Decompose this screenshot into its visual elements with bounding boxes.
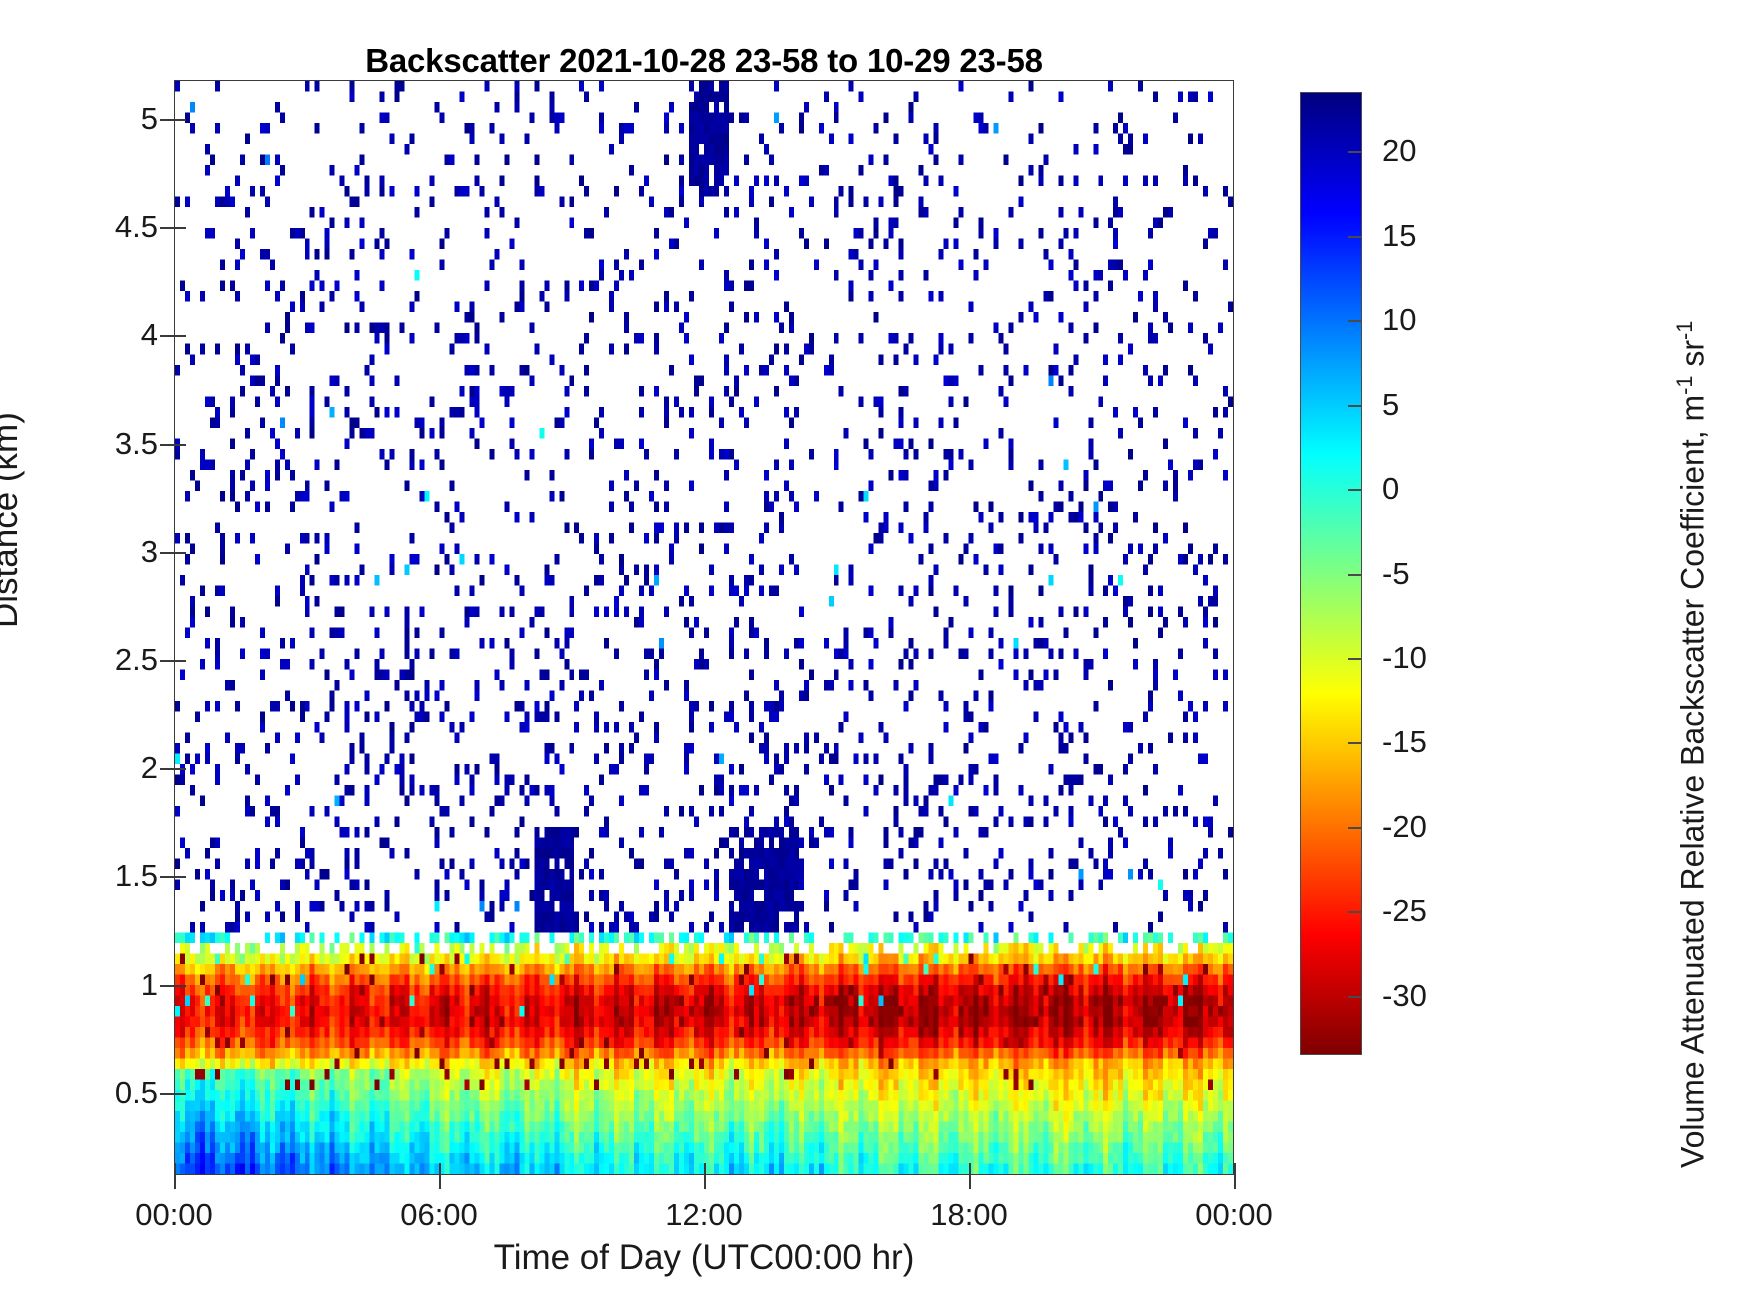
y-axis-tick-label: 5 [60, 101, 158, 137]
colorbar-tick [1348, 489, 1362, 491]
y-axis-tick-label: 4 [60, 317, 158, 353]
colorbar-tick [1348, 996, 1362, 998]
y-axis-tick [174, 876, 186, 878]
colorbar-tick [1348, 236, 1362, 238]
y-axis-tick-label: 3 [60, 534, 158, 570]
colorbar-tick [1348, 405, 1362, 407]
y-axis-tick [174, 227, 186, 229]
colorbar-tick [1348, 911, 1362, 913]
heatmap-bitmap [175, 81, 1233, 1174]
y-axis-tick-label: 2 [60, 750, 158, 786]
y-axis-tick-label: 0.5 [60, 1075, 158, 1111]
x-axis-tick-label: 18:00 [930, 1197, 1008, 1233]
y-axis-tick-label: 2.5 [60, 642, 158, 678]
y-axis-tick [174, 985, 186, 987]
y-axis-tick-outer [160, 552, 174, 554]
y-axis-tick [174, 335, 186, 337]
colorbar-title-mid: sr [1675, 340, 1711, 376]
y-axis-tick [174, 1093, 186, 1095]
x-axis-tick-label: 06:00 [400, 1197, 478, 1233]
colorbar-title: Volume Attenuated Relative Backscatter C… [1672, 321, 1712, 1168]
colorbar-tick-label: -10 [1382, 640, 1427, 676]
y-axis-tick-label: 3.5 [60, 426, 158, 462]
colorbar-tick-label: -5 [1382, 556, 1410, 592]
y-axis-tick-outer [160, 119, 174, 121]
colorbar-tick [1348, 320, 1362, 322]
x-axis-tick-outer [1234, 1175, 1236, 1189]
colorbar-tick [1348, 742, 1362, 744]
page-title: Backscatter 2021-10-28 23-58 to 10-29 23… [174, 42, 1234, 80]
colorbar-tick [1348, 574, 1362, 576]
y-axis-tick-label: 1 [60, 967, 158, 1003]
x-axis-tick-outer [174, 1175, 176, 1189]
colorbar-tick-label: 20 [1382, 133, 1416, 169]
x-axis-tick-label: 00:00 [1195, 1197, 1273, 1233]
colorbar-title-main: Volume Attenuated Relative Backscatter C… [1675, 395, 1711, 1168]
figure-canvas: Backscatter 2021-10-28 23-58 to 10-29 23… [0, 0, 1750, 1313]
y-axis-tick-outer [160, 335, 174, 337]
y-axis-tick-outer [160, 227, 174, 229]
x-axis-tick [439, 1163, 441, 1175]
x-axis-tick-label: 12:00 [665, 1197, 743, 1233]
colorbar-tick-label: 0 [1382, 471, 1399, 507]
colorbar-title-sup2: -1 [1672, 321, 1697, 340]
colorbar-tick-label: -20 [1382, 809, 1427, 845]
y-axis-tick-outer [160, 768, 174, 770]
y-axis-title: Distance (km) [0, 412, 26, 628]
colorbar-tick-label: -15 [1382, 724, 1427, 760]
y-axis-tick-outer [160, 985, 174, 987]
colorbar-tick-label: 10 [1382, 302, 1416, 338]
colorbar-tick [1348, 827, 1362, 829]
x-axis-tick [1234, 1163, 1236, 1175]
heatmap-image [175, 81, 1233, 1174]
x-axis-tick-outer [439, 1175, 441, 1189]
colorbar-tick-label: 15 [1382, 218, 1416, 254]
y-axis-tick-outer [160, 660, 174, 662]
colorbar-tick-label: 5 [1382, 387, 1399, 423]
y-axis-tick-outer [160, 1093, 174, 1095]
y-axis-tick [174, 768, 186, 770]
y-axis-tick [174, 444, 186, 446]
colorbar-tick-label: -30 [1382, 978, 1427, 1014]
x-axis-tick [969, 1163, 971, 1175]
y-axis-tick-outer [160, 444, 174, 446]
y-axis-tick [174, 660, 186, 662]
y-axis-tick [174, 119, 186, 121]
y-axis-tick [174, 552, 186, 554]
x-axis-tick-outer [704, 1175, 706, 1189]
x-axis-tick [704, 1163, 706, 1175]
x-axis-tick [174, 1163, 176, 1175]
y-axis-tick-label: 4.5 [60, 209, 158, 245]
y-axis-tick-label: 1.5 [60, 858, 158, 894]
colorbar-tick [1348, 658, 1362, 660]
y-axis-tick-outer [160, 876, 174, 878]
x-axis-tick-outer [969, 1175, 971, 1189]
colorbar-title-sup1: -1 [1672, 376, 1697, 395]
colorbar-tick-label: -25 [1382, 893, 1427, 929]
x-axis-tick-label: 00:00 [135, 1197, 213, 1233]
heatmap-axes [174, 80, 1234, 1175]
x-axis-title: Time of Day (UTC00:00 hr) [174, 1238, 1234, 1278]
colorbar-tick [1348, 151, 1362, 153]
